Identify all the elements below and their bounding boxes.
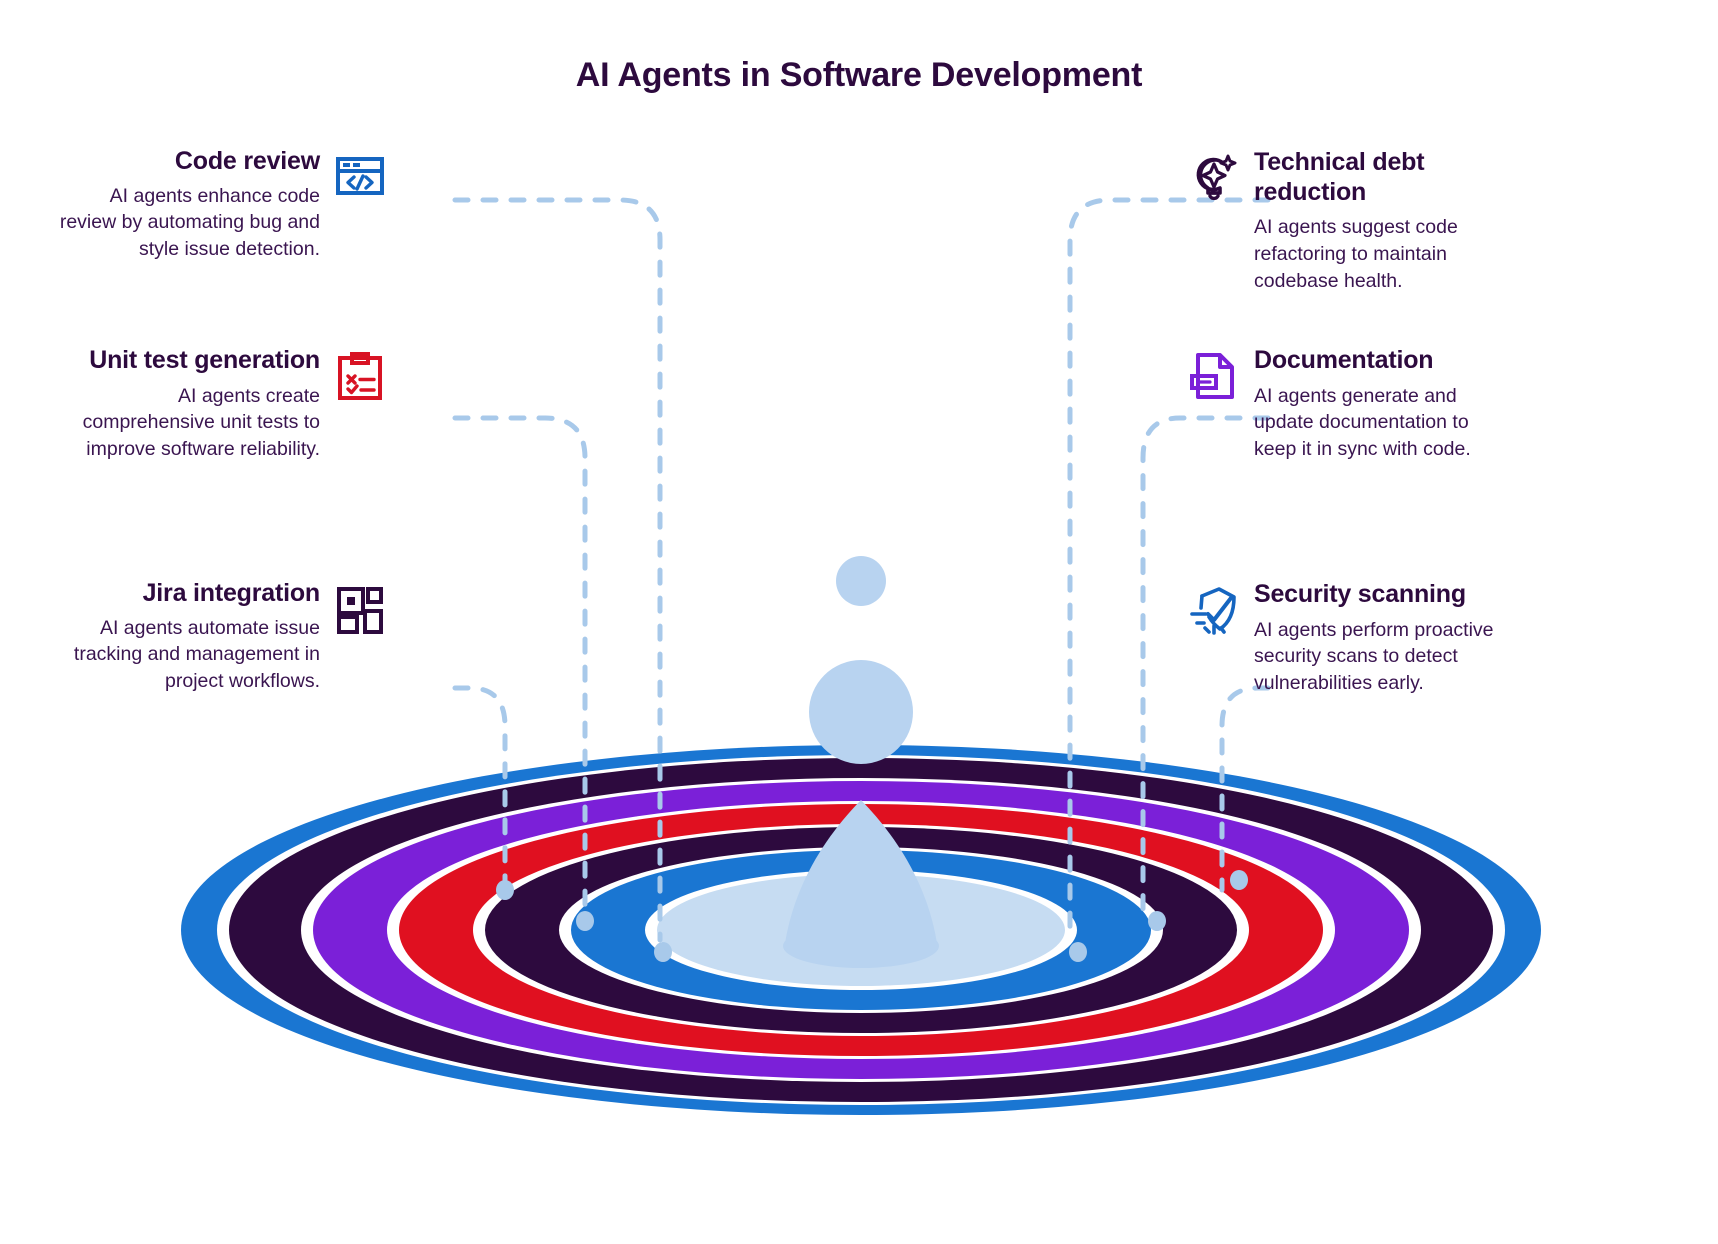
infographic-canvas: AI Agents in Software Development: [0, 0, 1718, 1244]
dot-jira: [496, 880, 514, 900]
qr-grid-icon: [334, 584, 386, 636]
item-unit-test-desc: AI agents create comprehensive unit test…: [58, 383, 320, 464]
item-security-title: Security scanning: [1254, 580, 1516, 610]
item-tech-debt-text: Technical debt reduction AI agents sugge…: [1254, 148, 1516, 295]
item-tech-debt-desc: AI agents suggest code refactoring to ma…: [1254, 214, 1516, 295]
item-jira-text: Jira integration AI agents automate issu…: [58, 580, 320, 695]
item-tech-debt[interactable]: Technical debt reduction AI agents sugge…: [1188, 148, 1516, 295]
item-code-review-desc: AI agents enhance code review by automat…: [58, 183, 320, 264]
connector-security: [1222, 688, 1268, 890]
item-security[interactable]: Security scanning AI agents perform proa…: [1188, 580, 1516, 697]
connector-endpoint-dots: [496, 870, 1248, 962]
item-documentation-title: Documentation: [1254, 346, 1516, 376]
document-icon: [1188, 350, 1240, 402]
connector-unit-test: [455, 418, 585, 920]
lightbulb-sparkle-icon: [1188, 152, 1240, 204]
browser-code-icon: [334, 152, 386, 204]
connector-code-review: [455, 200, 660, 940]
item-jira-title: Jira integration: [58, 580, 320, 608]
item-code-review[interactable]: Code review AI agents enhance code revie…: [58, 148, 386, 263]
item-documentation[interactable]: Documentation AI agents generate and upd…: [1188, 346, 1516, 463]
item-tech-debt-title: Technical debt reduction: [1254, 148, 1516, 207]
item-code-review-title: Code review: [58, 148, 320, 176]
dot-unit-test: [576, 911, 594, 931]
item-jira-desc: AI agents automate issue tracking and ma…: [58, 615, 320, 696]
item-unit-test-text: Unit test generation AI agents create co…: [58, 346, 320, 463]
item-jira[interactable]: Jira integration AI agents automate issu…: [58, 580, 386, 695]
item-documentation-desc: AI agents generate and update documentat…: [1254, 383, 1516, 464]
item-security-desc: AI agents perform proactive security sca…: [1254, 617, 1516, 698]
dot-security: [1230, 870, 1248, 890]
item-unit-test-title: Unit test generation: [58, 346, 320, 376]
connector-jira: [455, 688, 505, 890]
dot-code-review: [654, 942, 672, 962]
dot-documentation: [1148, 911, 1166, 931]
item-unit-test[interactable]: Unit test generation AI agents create co…: [58, 346, 386, 463]
shield-scan-icon: [1188, 584, 1240, 636]
dot-tech-debt: [1069, 942, 1087, 962]
item-security-text: Security scanning AI agents perform proa…: [1254, 580, 1516, 697]
item-documentation-text: Documentation AI agents generate and upd…: [1254, 346, 1516, 463]
clipboard-test-icon: [334, 350, 386, 402]
item-code-review-text: Code review AI agents enhance code revie…: [58, 148, 320, 263]
connector-tech-debt: [1070, 200, 1268, 940]
